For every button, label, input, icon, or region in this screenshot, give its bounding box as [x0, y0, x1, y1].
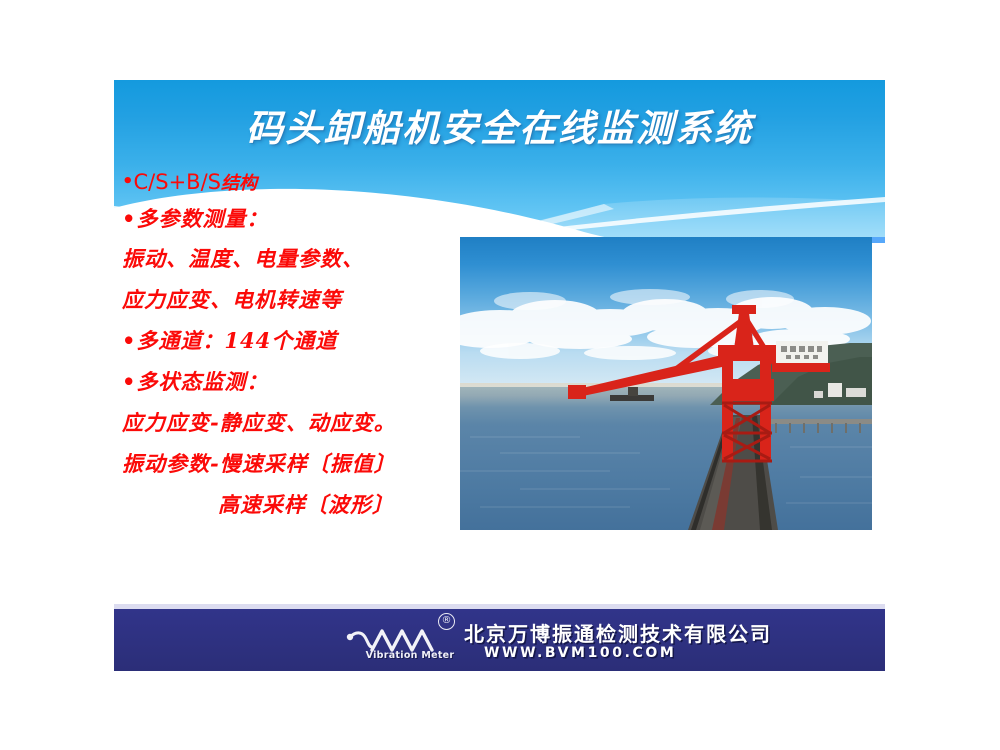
bullet-text: C/S+B/S [134, 170, 221, 194]
list-item: 高速采样〔波形〕 [122, 488, 482, 529]
footer-bar: ® Vibration Meter 北京万博振通检测技术有限公司 WWW.BVM… [114, 609, 885, 671]
slide-canvas: 码头卸船机安全在线监测系统 •C/S+B/S结构 •多参数测量： 振动、温度、电… [0, 0, 1000, 750]
bullet-text: 高速采样〔波形〕 [218, 492, 394, 517]
bullet-marker: • [122, 328, 136, 353]
list-item: 振动、温度、电量参数、 [122, 242, 482, 283]
photo-crane [460, 237, 872, 530]
bullet-text: 多状态监测： [136, 369, 268, 394]
logo-subtitle: Vibration Meter [360, 650, 460, 661]
bullet-text: 多通道：144个通道 [136, 328, 337, 353]
registered-trademark-icon: ® [438, 613, 455, 630]
bullet-text: 振动参数-慢速采样〔振值〕 [122, 451, 396, 476]
bullet-text: 应力应变、电机转速等 [122, 287, 342, 312]
list-item: 应力应变-静应变、动应变。 [122, 406, 482, 447]
bullet-list: •C/S+B/S结构 •多参数测量： 振动、温度、电量参数、 应力应变、电机转速… [122, 168, 482, 529]
bullet-marker: • [122, 206, 136, 231]
list-item: •C/S+B/S结构 [122, 168, 482, 204]
list-item: •多状态监测： [122, 365, 482, 406]
footer-content: ® Vibration Meter 北京万博振通检测技术有限公司 WWW.BVM… [346, 613, 766, 667]
bullet-text-suffix: 结构 [221, 173, 257, 194]
bullet-text: 振动、温度、电量参数、 [122, 246, 364, 271]
bullet-marker: • [122, 369, 136, 394]
bullet-marker: • [122, 171, 134, 192]
bullet-text: 应力应变-静应变、动应变。 [122, 410, 396, 435]
list-item: 应力应变、电机转速等 [122, 283, 482, 324]
company-website: WWW.BVM100.COM [484, 645, 676, 661]
page-title: 码头卸船机安全在线监测系统 [114, 98, 885, 152]
list-item: •多参数测量： [122, 204, 482, 242]
company-name: 北京万博振通检测技术有限公司 [464, 618, 772, 647]
crane-photo [460, 237, 872, 530]
bullet-text: 多参数测量： [136, 206, 268, 231]
list-item: 振动参数-慢速采样〔振值〕 [122, 447, 482, 488]
list-item: •多通道：144个通道 [122, 324, 482, 365]
